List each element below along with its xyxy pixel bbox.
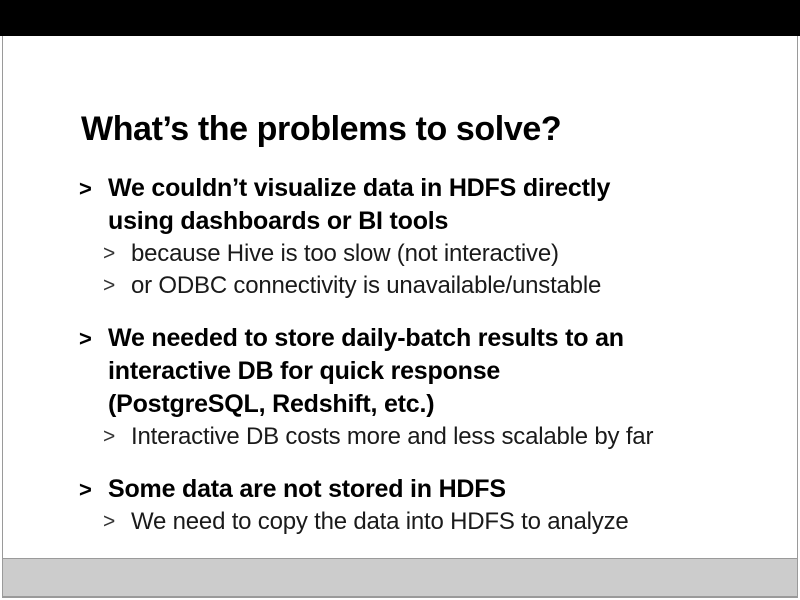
bullet-level2-line: Interactive DB costs more and less scala…	[131, 421, 799, 453]
bullet-level1: > We needed to store daily-batch results…	[3, 322, 799, 421]
slide-title: What’s the problems to solve?	[81, 110, 561, 149]
bullet-group: > Some data are not stored in HDFS > We …	[3, 473, 799, 538]
bullet-marker-icon: >	[103, 421, 115, 453]
bullet-marker-icon: >	[103, 270, 115, 302]
bullet-level1-line: We needed to store daily-batch results t…	[108, 322, 799, 355]
slide-bullet-body: > We couldn’t visualize data in HDFS dir…	[3, 172, 799, 538]
bullet-level2-line: or ODBC connectivity is unavailable/unst…	[131, 270, 799, 302]
bullet-marker-icon: >	[79, 473, 92, 506]
bullet-marker-icon: >	[79, 322, 92, 355]
top-letterbox-band	[0, 0, 800, 36]
bullet-level2: > We need to copy the data into HDFS to …	[3, 506, 799, 538]
bullet-group: > We couldn’t visualize data in HDFS dir…	[3, 172, 799, 302]
bullet-level1: > We couldn’t visualize data in HDFS dir…	[3, 172, 799, 238]
bullet-level2: > Interactive DB costs more and less sca…	[3, 421, 799, 453]
bullet-marker-icon: >	[103, 506, 115, 538]
bullet-level1: > Some data are not stored in HDFS	[3, 473, 799, 506]
bullet-marker-icon: >	[79, 172, 92, 205]
bullet-level2: > or ODBC connectivity is unavailable/un…	[3, 270, 799, 302]
bullet-level1-line: (PostgreSQL, Redshift, etc.)	[108, 388, 799, 421]
bullet-level2-line: because Hive is too slow (not interactiv…	[131, 238, 799, 270]
bullet-level1-line: using dashboards or BI tools	[108, 205, 799, 238]
bottom-control-bar[interactable]	[2, 558, 798, 598]
bullet-level1-line: interactive DB for quick response	[108, 355, 799, 388]
slide-canvas: What’s the problems to solve? > We could…	[2, 36, 798, 558]
bullet-level2: > because Hive is too slow (not interact…	[3, 238, 799, 270]
bullet-marker-icon: >	[103, 238, 115, 270]
bullet-level1-line: We couldn’t visualize data in HDFS direc…	[108, 172, 799, 205]
bullet-group: > We needed to store daily-batch results…	[3, 322, 799, 453]
slide-viewer: What’s the problems to solve? > We could…	[0, 0, 800, 600]
bullet-level2-line: We need to copy the data into HDFS to an…	[131, 506, 799, 538]
bullet-level1-line: Some data are not stored in HDFS	[108, 473, 799, 506]
